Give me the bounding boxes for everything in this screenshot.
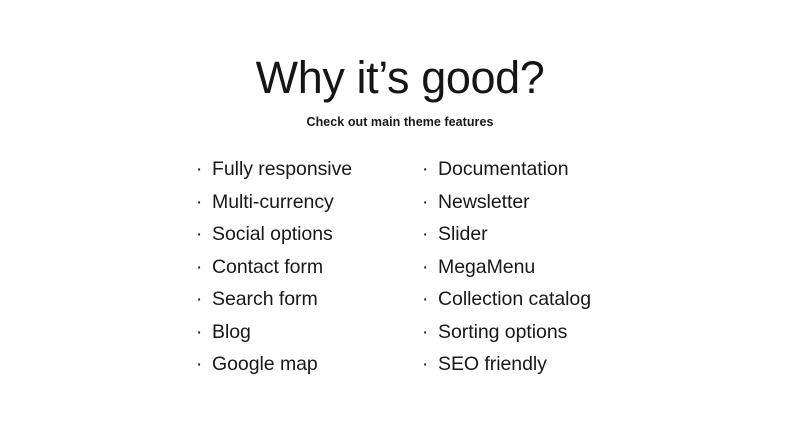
heading-block: Why it’s good? Check out main theme feat… (0, 52, 800, 130)
feature-label: Social options (212, 222, 333, 246)
list-item: · Newsletter (422, 190, 636, 223)
feature-label: Sorting options (438, 320, 567, 344)
bullet-icon: · (196, 256, 212, 280)
feature-label: Newsletter (438, 190, 530, 214)
bullet-icon: · (196, 223, 212, 247)
bullet-icon: · (422, 256, 438, 280)
bullet-icon: · (196, 353, 212, 377)
page-subtitle: Check out main theme features (0, 104, 800, 130)
feature-label: Slider (438, 222, 488, 246)
feature-label: Documentation (438, 157, 569, 181)
bullet-icon: · (196, 321, 212, 345)
bullet-icon: · (196, 191, 212, 215)
feature-label: Multi-currency (212, 190, 334, 214)
list-item: · Blog (196, 320, 422, 353)
list-item: · Multi-currency (196, 190, 422, 223)
feature-column-left: · Fully responsive · Multi-currency · So… (196, 157, 422, 385)
list-item: · Search form (196, 287, 422, 320)
feature-column-right: · Documentation · Newsletter · Slider · … (422, 157, 636, 385)
feature-label: MegaMenu (438, 255, 535, 279)
bullet-icon: · (422, 321, 438, 345)
list-item: · MegaMenu (422, 255, 636, 288)
bullet-icon: · (196, 158, 212, 182)
list-item: · Documentation (422, 157, 636, 190)
list-item: · SEO friendly (422, 352, 636, 385)
bullet-icon: · (422, 288, 438, 312)
bullet-icon: · (422, 191, 438, 215)
bullet-icon: · (196, 288, 212, 312)
feature-label: Blog (212, 320, 251, 344)
list-item: · Contact form (196, 255, 422, 288)
feature-label: Collection catalog (438, 287, 591, 311)
feature-label: Fully responsive (212, 157, 352, 181)
feature-label: Contact form (212, 255, 323, 279)
list-item: · Social options (196, 222, 422, 255)
bullet-icon: · (422, 353, 438, 377)
features-list: · Fully responsive · Multi-currency · So… (196, 157, 636, 385)
bullet-icon: · (422, 223, 438, 247)
feature-label: Google map (212, 352, 318, 376)
list-item: · Slider (422, 222, 636, 255)
feature-label: Search form (212, 287, 318, 311)
list-item: · Google map (196, 352, 422, 385)
list-item: · Fully responsive (196, 157, 422, 190)
list-item: · Collection catalog (422, 287, 636, 320)
page-title: Why it’s good? (0, 52, 800, 104)
list-item: · Sorting options (422, 320, 636, 353)
slide-canvas: Why it’s good? Check out main theme feat… (0, 0, 800, 446)
bullet-icon: · (422, 158, 438, 182)
feature-label: SEO friendly (438, 352, 547, 376)
